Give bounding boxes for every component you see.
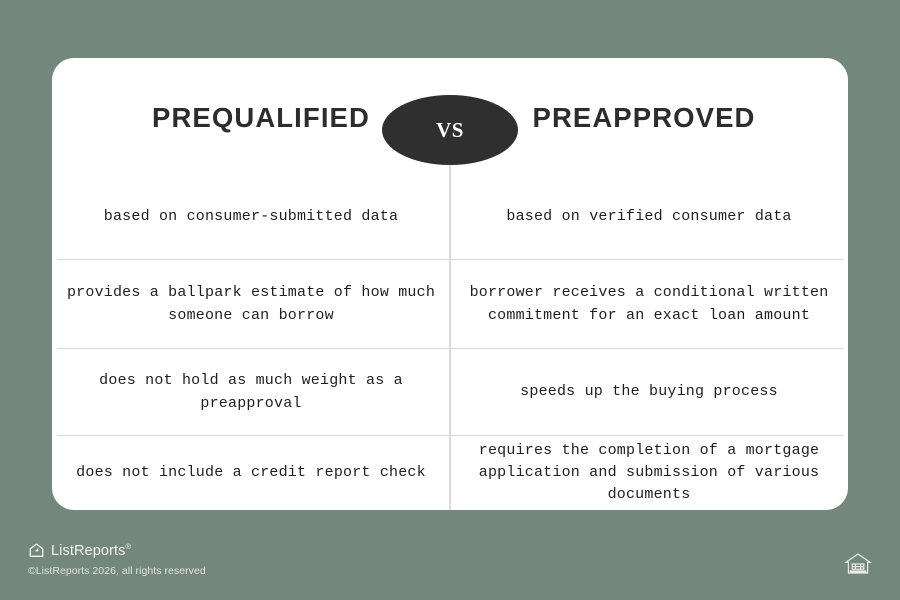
- cell-text: does not hold as much weight as a preapp…: [66, 370, 436, 414]
- cell-text: borrower receives a conditional written …: [464, 282, 834, 326]
- cell-text: requires the completion of a mortgage ap…: [464, 440, 834, 507]
- vs-badge: VS: [382, 95, 518, 165]
- cell-prequalified-2: provides a ballpark estimate of how much…: [52, 260, 450, 349]
- comparison-card: PREQUALIFIED PREAPPROVED VS based on con…: [52, 58, 848, 510]
- comparison-table: based on consumer-submitted data based o…: [52, 174, 848, 510]
- cell-preapproved-1: based on verified consumer data: [450, 174, 848, 260]
- cell-prequalified-1: based on consumer-submitted data: [52, 174, 450, 260]
- cell-text: based on verified consumer data: [506, 206, 791, 228]
- house-document-icon: [28, 542, 45, 559]
- equal-housing-opportunity-icon: [843, 550, 873, 578]
- cell-text: provides a ballpark estimate of how much…: [66, 282, 436, 326]
- table-row: does not include a credit report check r…: [52, 436, 848, 510]
- table-row: does not hold as much weight as a preapp…: [52, 349, 848, 436]
- brand-lockup: ListReports®: [28, 540, 368, 560]
- copyright-text: ©ListReports 2026, all rights reserved: [28, 565, 368, 577]
- cell-preapproved-2: borrower receives a conditional written …: [450, 260, 848, 349]
- cell-text: does not include a credit report check: [76, 462, 426, 484]
- cell-prequalified-4: does not include a credit report check: [52, 436, 450, 510]
- footer-branding: ListReports® ©ListReports 2026, all righ…: [28, 540, 368, 577]
- brand-name: ListReports®: [51, 542, 131, 559]
- card-header: PREQUALIFIED PREAPPROVED VS: [52, 58, 848, 174]
- cell-text: based on consumer-submitted data: [104, 206, 398, 228]
- cell-prequalified-3: does not hold as much weight as a preapp…: [52, 349, 450, 436]
- cell-preapproved-3: speeds up the buying process: [450, 349, 848, 436]
- table-row: based on consumer-submitted data based o…: [52, 174, 848, 260]
- table-row: provides a ballpark estimate of how much…: [52, 260, 848, 349]
- cell-text: speeds up the buying process: [520, 381, 778, 403]
- cell-preapproved-4: requires the completion of a mortgage ap…: [450, 436, 848, 510]
- brand-name-text: ListReports: [51, 542, 125, 558]
- vs-badge-label: VS: [436, 118, 464, 143]
- brand-trademark: ®: [125, 542, 131, 551]
